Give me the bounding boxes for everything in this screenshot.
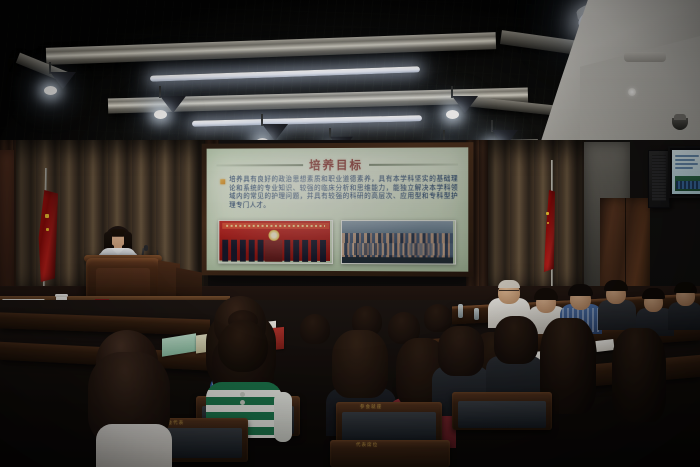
wall-speaker-icon — [648, 150, 670, 208]
attendee-arm — [274, 392, 292, 442]
display-thumbnail — [675, 176, 700, 191]
flag-star-icon — [547, 222, 549, 224]
projection-screen: 培养目标 培养具有良好的政治思想素质和职业道德素养，具有本学科坚实的基础理论和系… — [207, 147, 469, 271]
attendee-hair — [642, 288, 665, 299]
wall-pillar-left — [0, 150, 14, 300]
stage-curtain-right — [486, 140, 586, 300]
attendee-head — [332, 330, 388, 398]
display-screen — [672, 150, 700, 194]
flag-star-icon — [45, 214, 49, 218]
chair-plaque: 代表席位 — [356, 442, 378, 448]
chair-cushion — [458, 401, 546, 428]
attendee-hair — [674, 282, 697, 293]
wall-mounted-display — [668, 146, 700, 198]
document-paper — [595, 339, 614, 352]
projection-screen-frame: 培养目标 培养具有良好的政治思想素质和职业道德素养，具有本学科坚实的基础理论和系… — [202, 142, 474, 277]
smoke-detector-icon — [628, 88, 636, 96]
attendee-head — [438, 326, 484, 376]
flag-star-icon — [546, 212, 549, 215]
audience-head-back — [300, 314, 330, 344]
water-bottle — [474, 308, 479, 320]
attendee-hair — [604, 280, 628, 291]
glasses-icon — [499, 290, 519, 295]
attendee-head — [494, 316, 538, 364]
attendee-hair — [498, 280, 520, 288]
shirt-buttons — [240, 392, 245, 397]
air-vent — [624, 52, 666, 62]
glasses-icon — [111, 236, 125, 241]
attendee-body — [668, 302, 700, 330]
attendee-hair — [534, 288, 558, 300]
attendee-body — [598, 300, 636, 330]
audience-head-front — [218, 320, 268, 372]
audience-chair[interactable] — [330, 440, 450, 467]
microphone-icon — [144, 245, 148, 251]
flag-star-icon — [46, 228, 49, 231]
chair-plaque: 参会就座 — [360, 404, 382, 410]
attendee-head-long-hair — [612, 328, 666, 422]
teacup-lid — [55, 294, 68, 297]
conference-hall-photo: 培养目标 培养具有良好的政治思想素质和职业道德素养，具有本学科坚实的基础理论和系… — [0, 0, 700, 467]
podium-front-panel — [96, 268, 150, 298]
chair-cushion — [342, 412, 436, 442]
audience-body-front — [96, 424, 172, 467]
water-bottle — [458, 304, 463, 318]
attendee-hair — [568, 284, 593, 296]
